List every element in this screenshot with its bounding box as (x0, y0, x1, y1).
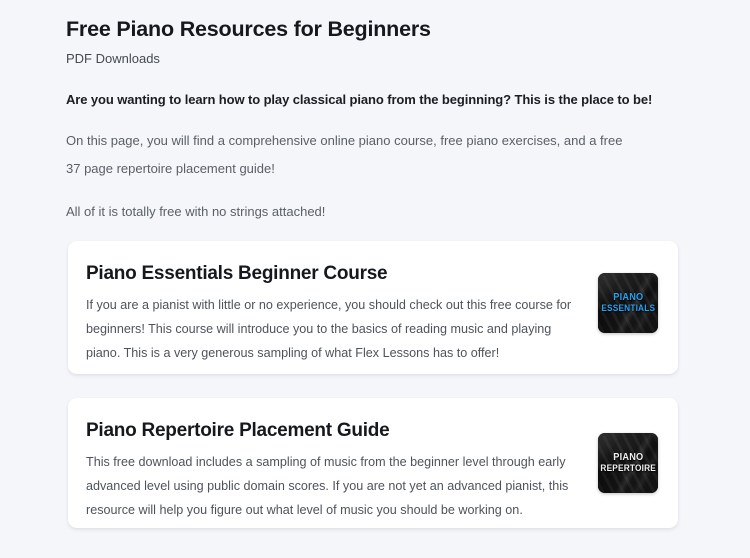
card-description: If you are a pianist with little or no e… (86, 293, 581, 365)
thumbnail-label-line1: PIANO (613, 452, 643, 463)
intro-section: Free Piano Resources for Beginners PDF D… (66, 14, 686, 226)
resource-card-piano-repertoire[interactable]: Piano Repertoire Placement Guide This fr… (68, 398, 678, 528)
intro-lead-line: Are you wanting to learn how to play cla… (66, 90, 686, 110)
page-subtitle: PDF Downloads (66, 49, 686, 69)
piano-essentials-thumbnail[interactable]: PIANO ESSENTIALS (598, 273, 658, 333)
card-title: Piano Repertoire Placement Guide (86, 418, 656, 444)
card-content: Piano Essentials Beginner Course If you … (68, 241, 678, 374)
page-root: Free Piano Resources for Beginners PDF D… (0, 0, 750, 558)
card-content: Piano Repertoire Placement Guide This fr… (68, 398, 678, 528)
piano-repertoire-thumbnail[interactable]: PIANO REPERTOIRE (598, 433, 658, 493)
intro-paragraph-1: On this page, you will find a comprehens… (66, 127, 636, 183)
card-description: This free download includes a sampling o… (86, 450, 581, 522)
card-title: Piano Essentials Beginner Course (86, 261, 656, 287)
page-title: Free Piano Resources for Beginners (66, 14, 686, 44)
resource-card-piano-essentials[interactable]: Piano Essentials Beginner Course If you … (68, 241, 678, 374)
thumbnail-label: PIANO REPERTOIRE (598, 433, 658, 493)
thumbnail-label-line1: PIANO (613, 292, 643, 303)
thumbnail-label-line2: ESSENTIALS (601, 303, 655, 314)
thumbnail-label-line2: REPERTOIRE (600, 463, 656, 474)
intro-paragraph-2: All of it is totally free with no string… (66, 198, 636, 226)
thumbnail-label: PIANO ESSENTIALS (598, 273, 658, 333)
